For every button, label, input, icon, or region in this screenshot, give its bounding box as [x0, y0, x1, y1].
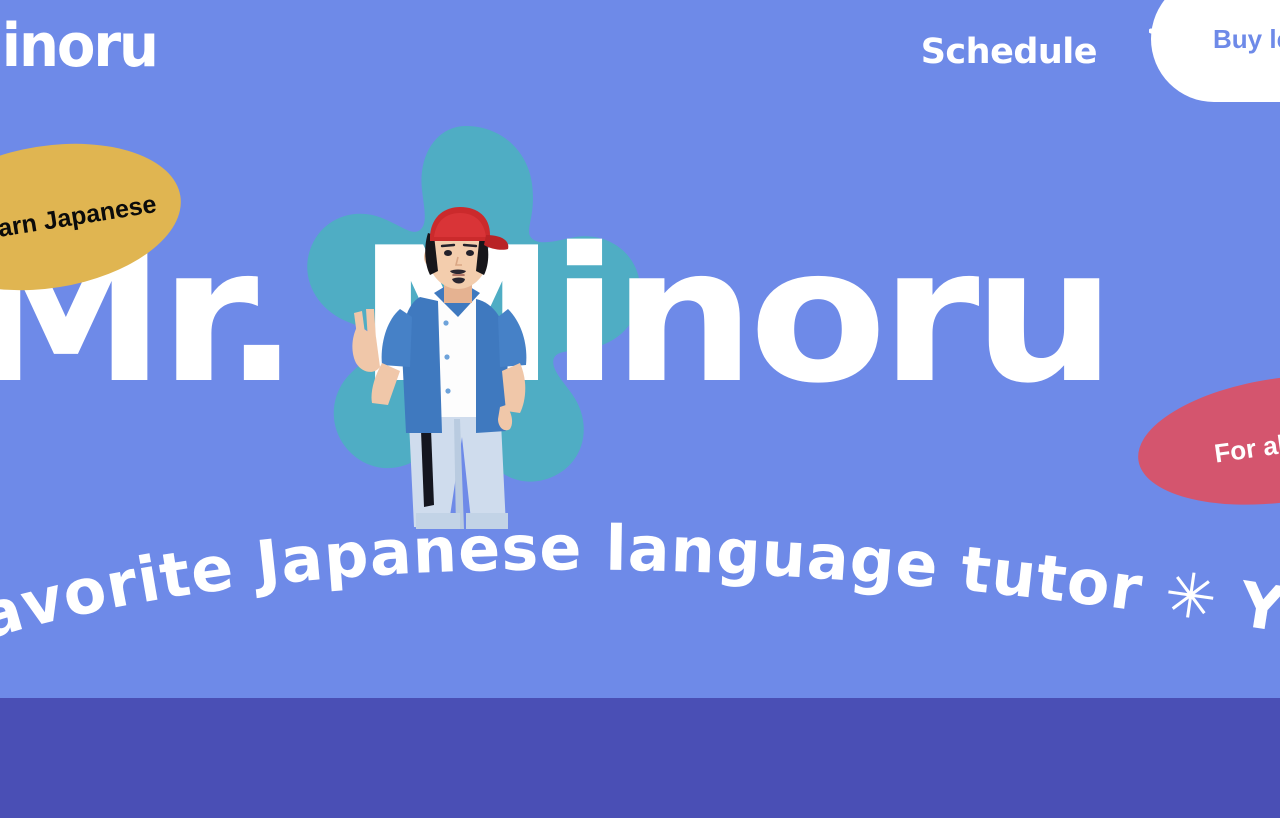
marquee-textpath: favorite Japanese language tutor ✳ Your … [0, 500, 1280, 662]
marquee-text: favorite Japanese language tutor ✳ Your … [0, 500, 1280, 662]
marquee-strip: favorite Japanese language tutor ✳ Your … [0, 500, 1280, 690]
tutor-portrait [330, 205, 580, 535]
badge-for-all-ages: For all ag [1130, 358, 1280, 521]
badge-learn-japanese-label: earn Japanese [0, 190, 158, 246]
top-navigation: Minoru Schedule 0 Buy le [0, 0, 1280, 104]
buy-lessons-button-label: Buy le [1213, 24, 1280, 55]
hero-section: Mr. Minoru earn Japanese For all ag favo… [0, 0, 1280, 698]
badge-for-all-ages-label: For all ag [1212, 422, 1280, 469]
nav-link-schedule[interactable]: Schedule [921, 32, 1097, 72]
brand-logo[interactable]: Minoru [0, 16, 157, 76]
page-root: Mr. Minoru earn Japanese For all ag favo… [0, 0, 1280, 818]
lower-section [0, 698, 1280, 818]
